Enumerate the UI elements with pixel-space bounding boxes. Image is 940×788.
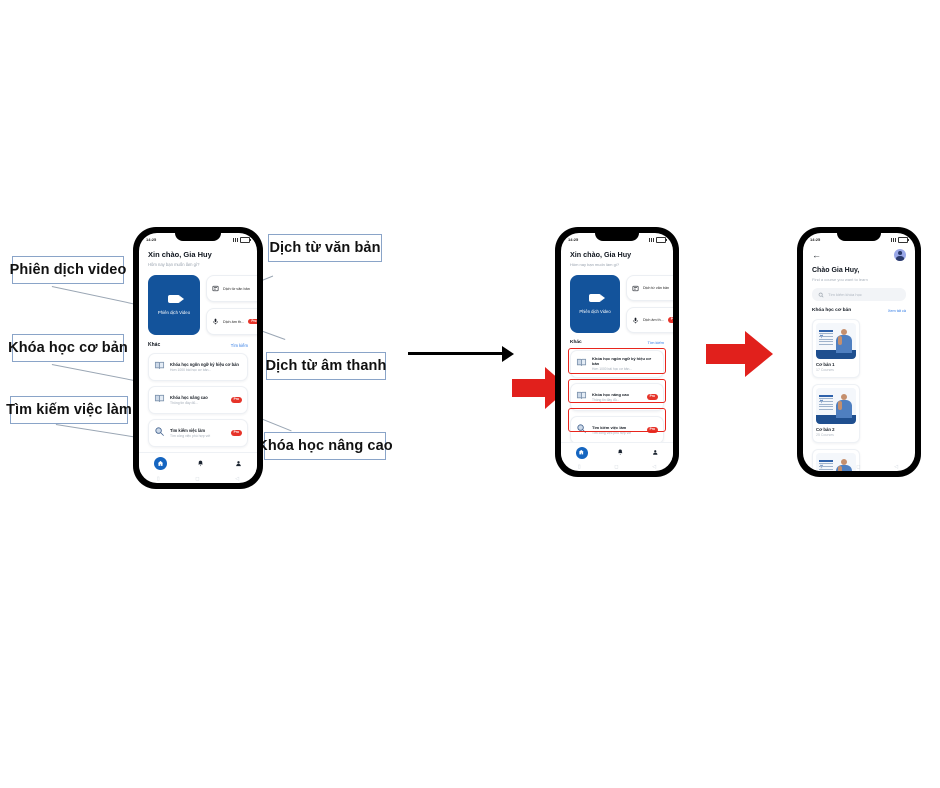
page-title: Xin chào, Gia Huy (570, 250, 664, 259)
phone-mockup-courses: 14:25 ← Chào Gia Huy, Find a course you … (798, 228, 920, 476)
list-item-desc: Tìm công việc phù hợp với (592, 431, 642, 435)
action-video-translate[interactable]: Phiên dịch Video (148, 275, 200, 335)
leader-line-1 (52, 286, 146, 307)
microphone-icon (632, 317, 639, 324)
back-nav-icon[interactable]: ◁ (652, 464, 656, 470)
search-input[interactable]: Tìm kiếm khóa học (812, 288, 906, 301)
phone1-home-content: Xin chào, Gia Huy Hôm nay bạn muốn làm g… (139, 250, 257, 483)
phone-mockup-home-highlighted: 14:25 Xin chào, Gia Huy Hôm nay bạn muốn… (556, 228, 678, 476)
action-audio-translate[interactable]: Dịch âm th... Pro (626, 307, 673, 333)
list-item-text: Khóa học ngôn ngữ ký hiệu cơ bản Hơn 100… (170, 362, 242, 372)
home-nav-icon[interactable]: ◻ (195, 476, 199, 482)
callout-label: Phiên dịch video (10, 262, 127, 278)
book-icon (154, 391, 165, 409)
course-card[interactable]: Cơ bản 1 17 Courses (812, 319, 860, 378)
course-card[interactable]: Cơ bản 2 25 Courses (812, 384, 860, 443)
status-indicators (891, 237, 908, 243)
list-item-desc: Thông tin đầy đủ... (592, 398, 642, 402)
course-header: ← (812, 249, 906, 261)
page-title: Chào Gia Huy, (812, 267, 906, 274)
pro-badge: Pro (647, 427, 658, 432)
course-count: 25 Courses (816, 433, 856, 437)
text-doc-icon (212, 285, 219, 292)
phone3-course-content: ← Chào Gia Huy, Find a course you want t… (803, 249, 915, 471)
page-subtitle: Find a course you want to learn (812, 277, 906, 282)
home-nav-icon[interactable]: ◻ (614, 464, 618, 470)
battery-icon (656, 237, 666, 243)
action-label: Dịch âm th... (643, 318, 664, 322)
list-item[interactable]: Tìm kiếm việc làm Tìm công việc phù hợp … (570, 416, 664, 444)
callout-label: Khóa học nâng cao (257, 438, 392, 454)
battery-icon (240, 237, 250, 243)
action-label: Phiên dịch Video (579, 309, 610, 314)
action-text-translate[interactable]: Dịch từ văn bản (206, 275, 257, 302)
course-name: Cơ bản 2 (816, 427, 856, 432)
pro-badge: Pro (248, 319, 257, 324)
callout-label: Khóa học cơ bản (8, 340, 128, 356)
red-arrow-shape (706, 330, 774, 378)
list-item[interactable]: Khóa học ngôn ngữ ký hiệu cơ bản Hơn 100… (570, 350, 664, 378)
list-item-desc: Hơn 1000 bài học cơ bản... (170, 368, 242, 372)
nav-home[interactable] (576, 447, 588, 459)
list-item[interactable]: Tìm kiếm việc làm Tìm công việc phù hợp … (148, 419, 248, 447)
section-title: Khác (148, 342, 160, 348)
list-item-title: Tìm kiếm việc làm (592, 425, 642, 430)
callout-label: Dịch từ âm thanh (266, 358, 387, 374)
page-subtitle: Hôm nay bạn muốn làm gì? (148, 262, 248, 267)
page-subtitle: Hôm nay bạn muốn làm gì? (570, 262, 664, 267)
bottom-navigation (139, 452, 257, 474)
list-item-text: Tìm kiếm việc làm Tìm công việc phù hợp … (170, 428, 226, 438)
status-indicators (233, 237, 250, 243)
list-item-text: Khóa học nâng cao Thông tin đầy đủ... (592, 392, 642, 402)
callout-khoa-hoc-co-ban: Khóa học cơ bản (12, 334, 124, 362)
list-item-title: Khóa học nâng cao (592, 392, 642, 397)
search-placeholder: Tìm kiếm khóa học (828, 292, 862, 297)
page-title: Xin chào, Gia Huy (148, 250, 248, 259)
callout-label: Tìm kiếm việc làm (6, 402, 132, 418)
list-item-text: Khóa học nâng cao Thông tin đầy đủ... (170, 395, 226, 405)
nav-home[interactable] (154, 457, 167, 470)
list-item[interactable]: Khóa học nâng cao Thông tin đầy đủ... Pr… (148, 386, 248, 414)
status-time: 14:25 (146, 237, 156, 242)
video-icon (168, 295, 180, 303)
secondary-actions: Dịch từ văn bản Dịch âm th... Pro (206, 275, 257, 335)
list-item-title: Khóa học nâng cao (170, 395, 226, 400)
recents-icon[interactable]: ▯ (157, 476, 160, 482)
thumb-text-lines (819, 395, 833, 411)
status-indicators (649, 237, 666, 243)
search-icon (818, 292, 824, 298)
microphone-icon (212, 318, 219, 325)
nav-profile[interactable] (652, 449, 659, 456)
flow-arrow-red-2 (706, 330, 774, 378)
back-arrow-icon[interactable]: ← (812, 251, 821, 260)
recents-icon[interactable]: ▯ (820, 464, 823, 470)
pro-badge: Pro (231, 430, 242, 435)
nav-notifications[interactable] (617, 449, 624, 456)
diagram-canvas: Phiên dịch video Khóa học cơ bản Tìm kiế… (0, 0, 940, 788)
android-system-bar: ▯ ◻ ◁ (561, 462, 673, 471)
pro-badge: Pro (668, 317, 673, 322)
pro-badge: Pro (231, 397, 242, 402)
status-time: 14:25 (568, 237, 578, 242)
android-system-bar: ▯ ◻ ◁ (139, 474, 257, 483)
callout-dich-tu-van-ban: Dịch từ văn bản (268, 234, 382, 262)
action-label: Dịch từ văn bản (643, 286, 673, 290)
course-grid: Cơ bản 1 17 Courses (812, 319, 906, 471)
callout-dich-tu-am-thanh: Dịch từ âm thanh (266, 352, 386, 380)
action-audio-translate[interactable]: Dịch âm th... Pro (206, 308, 257, 335)
thumb-person-arm (838, 401, 842, 410)
action-label: Dịch âm th... (223, 320, 244, 324)
job-search-icon (154, 424, 165, 442)
course-thumbnail (816, 388, 856, 424)
callout-label: Dịch từ văn bản (269, 240, 380, 256)
quick-actions: Phiên dịch Video Dịch từ văn bản (570, 275, 664, 333)
home-nav-icon[interactable]: ◻ (856, 464, 860, 470)
thumb-text-lines (819, 330, 833, 346)
callout-phien-dich-video: Phiên dịch video (12, 256, 124, 284)
section-title: Khóa học cơ bản (812, 308, 851, 313)
flow-arrow-black (408, 352, 504, 355)
list-item[interactable]: Khóa học ngôn ngữ ký hiệu cơ bản Hơn 100… (148, 353, 248, 381)
book-icon (576, 388, 587, 406)
back-nav-icon[interactable]: ◁ (235, 476, 239, 482)
phone2-notch (595, 233, 639, 241)
secondary-actions: Dịch từ văn bản Dịch âm th... Pro (626, 275, 673, 333)
list-item-title: Tìm kiếm việc làm (170, 428, 226, 433)
status-time: 14:25 (810, 237, 820, 242)
phone-mockup-home: 14:25 Xin chào, Gia Huy Hôm nay bạn muốn… (134, 228, 262, 488)
section-action-search[interactable]: Tìm kiếm (231, 343, 248, 348)
phone3-notch (837, 233, 881, 241)
phone1-screen: 14:25 Xin chào, Gia Huy Hôm nay bạn muốn… (139, 233, 257, 483)
section-header-basic-courses: Khóa học cơ bản Xem tất cả (812, 308, 906, 313)
section-action-see-all[interactable]: Xem tất cả (888, 309, 906, 313)
list-item-desc: Tìm công việc phù hợp với (170, 434, 226, 438)
course-thumbnail (816, 323, 856, 359)
nav-notifications[interactable] (197, 460, 204, 467)
list-item[interactable]: Khóa học nâng cao Thông tin đầy đủ... Pr… (570, 383, 664, 411)
phone2-home-content: Xin chào, Gia Huy Hôm nay bạn muốn làm g… (561, 250, 673, 471)
action-video-translate[interactable]: Phiên dịch Video (570, 275, 620, 333)
list-item-text: Tìm kiếm việc làm Tìm công việc phù hợp … (592, 425, 642, 435)
nav-profile[interactable] (235, 460, 242, 467)
list-item-title: Khóa học ngôn ngữ ký hiệu cơ bản (592, 356, 658, 366)
callout-tim-kiem-viec-lam: Tìm kiếm việc làm (10, 396, 128, 424)
signal-icon (649, 238, 654, 242)
list-item-desc: Thông tin đầy đủ... (170, 401, 226, 405)
course-name: Cơ bản 1 (816, 362, 856, 367)
signal-icon (891, 238, 896, 242)
android-system-bar: ▯ ◻ ◁ (803, 462, 915, 471)
list-item-text: Khóa học ngôn ngữ ký hiệu cơ bản Hơn 100… (592, 356, 658, 371)
recents-icon[interactable]: ▯ (578, 464, 581, 470)
signal-icon (233, 238, 238, 242)
text-doc-icon (632, 285, 639, 292)
book-icon (154, 358, 165, 376)
thumb-person-arm (838, 336, 842, 345)
action-label: Phiên dịch Video (158, 310, 190, 315)
pro-badge: Pro (647, 394, 658, 399)
phone3-screen: 14:25 ← Chào Gia Huy, Find a course you … (803, 233, 915, 471)
job-search-icon (576, 421, 587, 439)
phone2-screen: 14:25 Xin chào, Gia Huy Hôm nay bạn muốn… (561, 233, 673, 471)
section-title: Khác (570, 340, 582, 345)
back-nav-icon[interactable]: ◁ (894, 464, 898, 470)
battery-icon (898, 237, 908, 243)
list-item-title: Khóa học ngôn ngữ ký hiệu cơ bản (170, 362, 242, 367)
callout-khoa-hoc-nang-cao: Khóa học nâng cao (264, 432, 386, 460)
section-action-search[interactable]: Tìm kiếm (648, 340, 664, 345)
course-count: 17 Courses (816, 368, 856, 372)
action-text-translate[interactable]: Dịch từ văn bản (626, 275, 673, 301)
list-item-desc: Hơn 1000 bài học cơ bản... (592, 367, 658, 371)
book-icon (576, 355, 587, 373)
quick-actions: Phiên dịch Video Dịch từ văn bản (148, 275, 248, 335)
bottom-navigation (561, 442, 673, 462)
action-label: Dịch từ văn bản (223, 287, 257, 291)
avatar[interactable] (894, 249, 906, 261)
section-header-other: Khác Tìm kiếm (570, 340, 664, 345)
phone1-notch (175, 233, 221, 241)
video-icon (589, 294, 601, 302)
section-header-other: Khác Tìm kiếm (148, 342, 248, 348)
